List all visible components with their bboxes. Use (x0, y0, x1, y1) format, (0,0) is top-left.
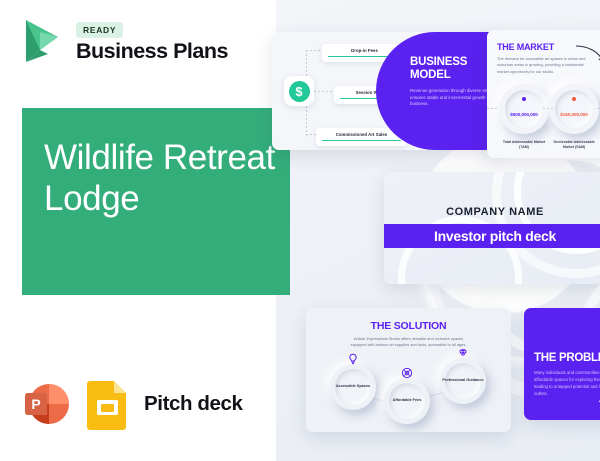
slide-title: THE PROBLEM (534, 352, 600, 364)
slide-company-name[interactable]: COMPANY NAME Investor pitch deck (384, 172, 600, 284)
hero-panel: Wildlife Retreat Lodge (22, 108, 290, 295)
slide-description: The demand for accessible art spaces in … (497, 56, 593, 75)
presentation-preview: READY Business Plans Wildlife Retreat Lo… (0, 0, 600, 461)
dollar-sign-icon: $ (284, 76, 314, 106)
metric-caption: Serviceable Addressable Market (SAM) (549, 140, 599, 150)
play-arrow-logo-icon (18, 16, 64, 66)
page-title: Wildlife Retreat Lodge (44, 138, 282, 220)
footer-label: Pitch deck (144, 392, 243, 416)
metric-value: $500,000,000 (499, 112, 549, 117)
lightbulb-icon (347, 352, 359, 364)
powerpoint-icon: P (22, 379, 72, 429)
slide-market[interactable]: THE MARKET The demand for accessible art… (487, 30, 600, 158)
format-footer: P Pitch deck (22, 378, 243, 430)
connector-line (487, 108, 499, 109)
connector-line (543, 108, 555, 109)
underline (322, 140, 401, 141)
metric-caption: Total Addressable Market (TAM) (499, 140, 549, 150)
connector-line (314, 91, 336, 92)
target-icon (401, 366, 413, 378)
solution-node-label: Professional Guidance (440, 378, 486, 384)
company-name: COMPANY NAME (384, 206, 600, 218)
metric-dot (522, 97, 526, 101)
slide-business-model[interactable]: $ Drop-in Fees Session Workshops Commiss… (272, 32, 504, 150)
ready-badge: READY (76, 22, 123, 38)
metric-value: $150,000,000 (549, 112, 599, 117)
slide-solution[interactable]: THE SOLUTION Artistic Expressions Studio… (306, 308, 511, 432)
company-subtitle: Investor pitch deck (434, 228, 556, 244)
slide-problem[interactable]: THE PROBLEM Many individuals and communi… (524, 308, 600, 420)
brand-name: Business Plans (76, 41, 228, 63)
company-subtitle-band: Investor pitch deck (384, 224, 600, 248)
market-metric: $150,000,000 Serviceable Addressable Mar… (549, 84, 599, 134)
brand-header: READY Business Plans (18, 16, 228, 66)
solution-node: Affordable Fees (384, 378, 430, 424)
slide-title: BUSINESS MODEL (410, 56, 496, 82)
solution-node-label: Affordable Fees (384, 398, 430, 404)
solution-node: Professional Guidance (440, 358, 486, 404)
slide-title: THE MARKET (497, 42, 554, 52)
market-metric: $500,000,000 Total Addressable Market (T… (499, 84, 549, 134)
slide-title: THE SOLUTION (306, 320, 511, 332)
diamond-icon (457, 346, 469, 358)
svg-text:P: P (31, 396, 40, 412)
solution-node: Accessible Spaces (330, 364, 376, 410)
slide-description: Many individuals and communities lack ac… (534, 370, 600, 398)
business-model-highlight: BUSINESS MODEL Revenue generation throug… (376, 32, 504, 150)
solution-node-label: Accessible Spaces (330, 384, 376, 390)
business-model-item-label: Commissioned Art Sales (322, 132, 401, 137)
metric-dot (572, 97, 576, 101)
slide-description: Artistic Expressions Studio offers versa… (348, 336, 469, 349)
google-slides-icon (86, 378, 130, 430)
